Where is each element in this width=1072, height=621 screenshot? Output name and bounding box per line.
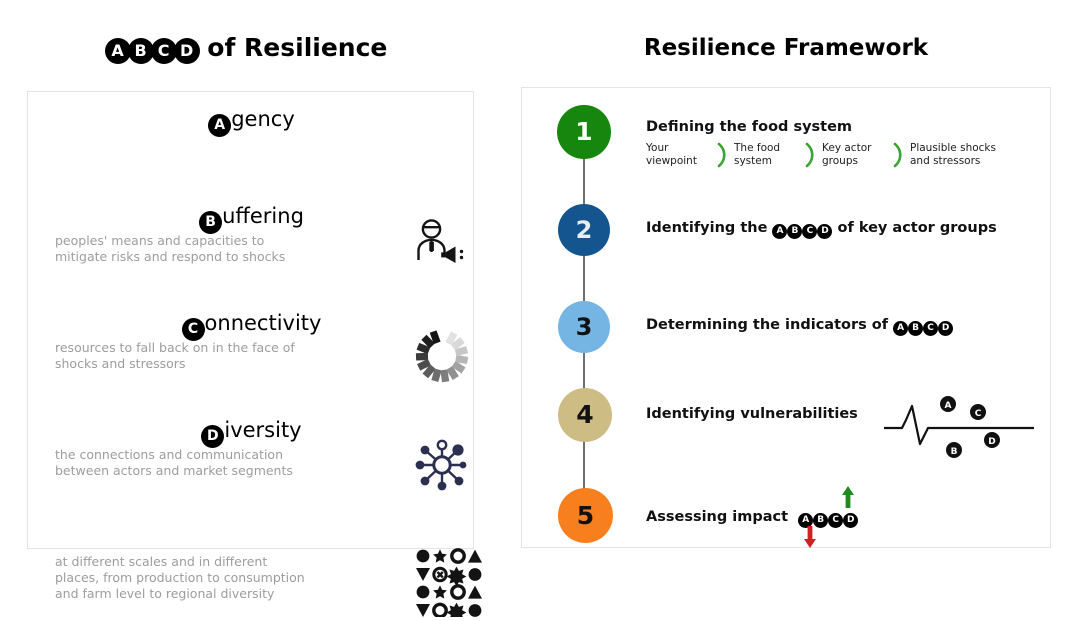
step-title-4: Identifying vulnerabilities [646, 406, 858, 422]
chevron-right-icon-1 [712, 141, 734, 169]
step-title-3: Determining the indicators of ABCD [646, 317, 953, 336]
impact-arrow-down-icon [802, 524, 818, 554]
step-number-3: 3 [576, 313, 593, 341]
heading-badge-d: D [201, 425, 224, 448]
step-title-1: Defining the food system [646, 119, 852, 135]
step-title-2: Identifying the ABCD of key actor groups [646, 220, 997, 239]
section-heading-connectivity: Connectivity [28, 311, 475, 341]
step-number-circle-1: 1 [557, 105, 611, 159]
crumb-key-actor-groups: Key actor groups [822, 142, 888, 168]
abcd-section-diversity: Diversity [28, 418, 475, 448]
abcd-section-connectivity: Connectivity [28, 311, 475, 341]
crumb-viewpoint: Your viewpoint [646, 142, 712, 168]
badge-letter-b: B [128, 38, 154, 64]
step-2-text-before: Identifying the [646, 220, 772, 236]
step-2-badge-c: C [802, 224, 817, 239]
wave-marker-c-label: C [975, 409, 982, 419]
step-title-5: Assessing impact ABCD [646, 509, 858, 528]
badge-letter-c: C [151, 38, 177, 64]
step-3-badge-c: C [923, 321, 938, 336]
step-number-5: 5 [577, 501, 594, 530]
heading-badge-c: C [182, 318, 205, 341]
step-5-badge-c: C [828, 513, 843, 528]
section-body-buffering: resources to fall back on in the face of… [55, 340, 375, 372]
crumb-food-system: The food system [734, 142, 800, 168]
section-heading-diversity: Diversity [28, 418, 475, 448]
left-panel-title: ABCD of Resilience [0, 33, 492, 64]
heading-badge-b: B [199, 211, 222, 234]
step-number-1: 1 [575, 117, 592, 146]
abcd-section-agency: Agency [28, 107, 475, 137]
wave-marker-d-label: D [988, 437, 995, 447]
step-2-badge-d: D [817, 224, 832, 239]
badge-letter-d: D [174, 38, 200, 64]
wave-marker-b-label: B [951, 447, 958, 457]
step-number-circle-4: 4 [558, 388, 612, 442]
step-2-badge-b: B [787, 224, 802, 239]
step-number-4: 4 [576, 400, 593, 429]
step-2-text-after: of key actor groups [832, 220, 996, 236]
step-number-2: 2 [576, 216, 593, 244]
framework-panel: 1 Defining the food system Your viewpoin… [521, 87, 1051, 548]
step-3-text-before: Determining the indicators of [646, 317, 893, 333]
right-panel-title: Resilience Framework [521, 35, 1051, 61]
section-body-diversity: at different scales and in different pla… [55, 554, 385, 602]
heading-text-agency: gency [231, 107, 295, 131]
step-5-badge-d: D [843, 513, 858, 528]
step-5-text-before: Assessing impact [646, 509, 788, 525]
step-3-badge-b: B [908, 321, 923, 336]
title-abcd-badges: ABCD [105, 35, 197, 64]
chevron-right-icon-2 [800, 141, 822, 169]
shock-wave-with-abcd-markers: A C B D [882, 384, 1042, 468]
heading-badge-a: A [208, 114, 231, 137]
section-heading-buffering: Buffering [28, 204, 475, 234]
step-2-badge-a: A [772, 224, 787, 239]
step-3-badge-a: A [893, 321, 908, 336]
crumb-plausible-shocks: Plausible shocks and stressors [910, 142, 1002, 168]
abcd-section-buffering: Buffering [28, 204, 475, 234]
heading-text-buffering: uffering [222, 204, 304, 228]
impact-arrow-up-icon [840, 484, 856, 514]
shape-grid-icon [414, 547, 484, 621]
step-number-circle-5: 5 [558, 488, 613, 543]
abcd-panel: Agency peoples' means and capacities to … [27, 91, 474, 549]
heading-text-diversity: iversity [224, 418, 301, 442]
step-number-circle-3: 3 [558, 301, 610, 353]
heading-text-connectivity: onnectivity [205, 311, 322, 335]
left-title-text: of Resilience [199, 33, 388, 62]
chevron-right-icon-3 [888, 141, 910, 169]
wave-marker-a-label: A [945, 401, 952, 411]
step-number-circle-2: 2 [558, 204, 610, 256]
slide-canvas: ABCD of Resilience Resilience Framework … [0, 0, 1072, 562]
step-3-badge-d: D [938, 321, 953, 336]
section-heading-agency: Agency [28, 107, 475, 137]
step-1-breadcrumbs: Your viewpoint The food system Key actor… [646, 141, 1002, 169]
section-body-agency: peoples' means and capacities to mitigat… [55, 233, 365, 265]
badge-letter-a: A [105, 38, 131, 64]
section-body-connectivity: the connections and communication betwee… [55, 447, 375, 479]
